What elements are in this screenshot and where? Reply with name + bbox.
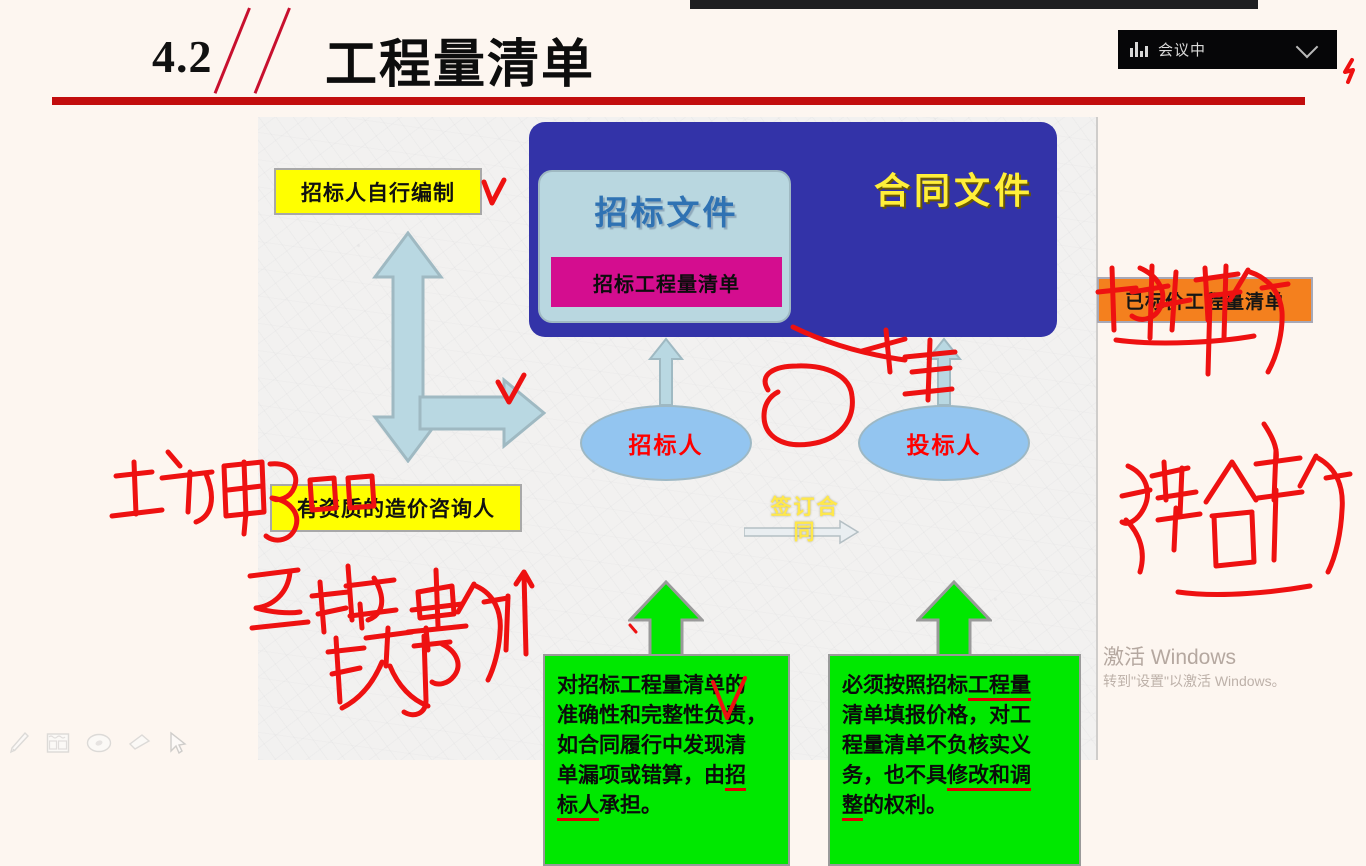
whiteboard-icon[interactable] bbox=[46, 732, 70, 754]
note-underline: 整 bbox=[842, 793, 863, 821]
actor-ellipse-tenderee: 招标人 bbox=[580, 405, 752, 481]
title-text: 工程量清单 bbox=[325, 22, 595, 97]
sign-contract-label: 签订合同 bbox=[763, 495, 847, 545]
green-note-bidder-duty: 必须按照招标工程量 清单填报价格，对工 程量清单不负核实义 务，也不具修改和调 … bbox=[828, 654, 1081, 866]
note-underline: 标人 bbox=[557, 793, 599, 821]
watermark-title: 激活 Windows bbox=[1103, 645, 1286, 671]
note-line: 必须按照招标 bbox=[842, 673, 968, 697]
title-slash-decoration bbox=[254, 7, 291, 93]
connector-up-tenderee bbox=[648, 337, 684, 407]
title-slash-decoration bbox=[214, 7, 251, 93]
yellow-note-qualified-consultant: 有资质的造价咨询人 bbox=[270, 484, 522, 532]
bar-chart-icon bbox=[1130, 42, 1148, 57]
slide-stage: 4.2 工程量清单 会议中 合同文件 已标价工程量清单 招标文件 招标工程量清单… bbox=[0, 0, 1366, 760]
note-line: 单漏项或错算，由 bbox=[557, 763, 725, 787]
priced-boq-box: 已标价工程量清单 bbox=[1097, 277, 1313, 323]
section-number: 4.2 bbox=[152, 30, 213, 83]
green-note-tenderee-duty: 对招标工程量清单的 准确性和完整性负责， 如合同履行中发现清 单漏项或错算，由招… bbox=[543, 654, 790, 866]
chevron-down-icon[interactable] bbox=[1296, 36, 1319, 59]
ellipse-icon[interactable] bbox=[86, 732, 112, 754]
note-line: 承担。 bbox=[599, 793, 662, 817]
note-line: 清单填报价格，对工 bbox=[842, 703, 1031, 727]
tender-boq-box: 招标工程量清单 bbox=[551, 257, 782, 307]
arrow-right-to-tender bbox=[418, 377, 546, 449]
note-line: 的权利。 bbox=[863, 793, 947, 817]
eraser-icon[interactable] bbox=[128, 732, 152, 754]
actor-ellipse-bidder: 投标人 bbox=[858, 405, 1030, 481]
note-underline: 修改和调 bbox=[947, 763, 1031, 791]
cursor-icon[interactable] bbox=[168, 731, 188, 755]
note-line: 程量清单不负核实义 bbox=[842, 733, 1031, 757]
contract-file-title: 合同文件 bbox=[854, 162, 1054, 214]
watermark-subtitle: 转到"设置"以激活 Windows。 bbox=[1103, 671, 1286, 691]
yellow-note-self-prepared: 招标人自行编制 bbox=[274, 168, 482, 215]
note-underline: 招 bbox=[725, 763, 746, 791]
sign-contract-text: 签订合同 bbox=[771, 495, 840, 544]
note-line: 对招标工程量清单的 bbox=[557, 673, 746, 697]
meeting-status-label: 会议中 bbox=[1158, 39, 1299, 60]
tender-file-box: 招标文件 招标工程量清单 bbox=[538, 170, 791, 323]
note-line: 如合同履行中发现清 bbox=[557, 733, 746, 757]
ink-toolbar[interactable] bbox=[8, 731, 188, 755]
pen-icon[interactable] bbox=[8, 731, 30, 755]
green-arrow-right bbox=[916, 580, 992, 658]
connector-up-bidder bbox=[926, 337, 962, 407]
title-underline-rule bbox=[52, 97, 1305, 105]
windows-activation-watermark: 激活 Windows 转到"设置"以激活 Windows。 bbox=[1103, 645, 1286, 691]
meeting-status-pill[interactable]: 会议中 bbox=[1118, 30, 1337, 69]
top-dark-strip bbox=[690, 0, 1258, 9]
slide-canvas: 合同文件 已标价工程量清单 招标文件 招标工程量清单 招标人自行编制 有资质的造… bbox=[258, 117, 1098, 760]
note-line: 务，也不具 bbox=[842, 763, 947, 787]
note-underline: 工程量 bbox=[968, 673, 1031, 701]
note-line: 准确性和完整性负责， bbox=[557, 703, 767, 727]
green-arrow-left bbox=[628, 580, 704, 658]
tender-file-title: 招标文件 bbox=[540, 186, 793, 234]
